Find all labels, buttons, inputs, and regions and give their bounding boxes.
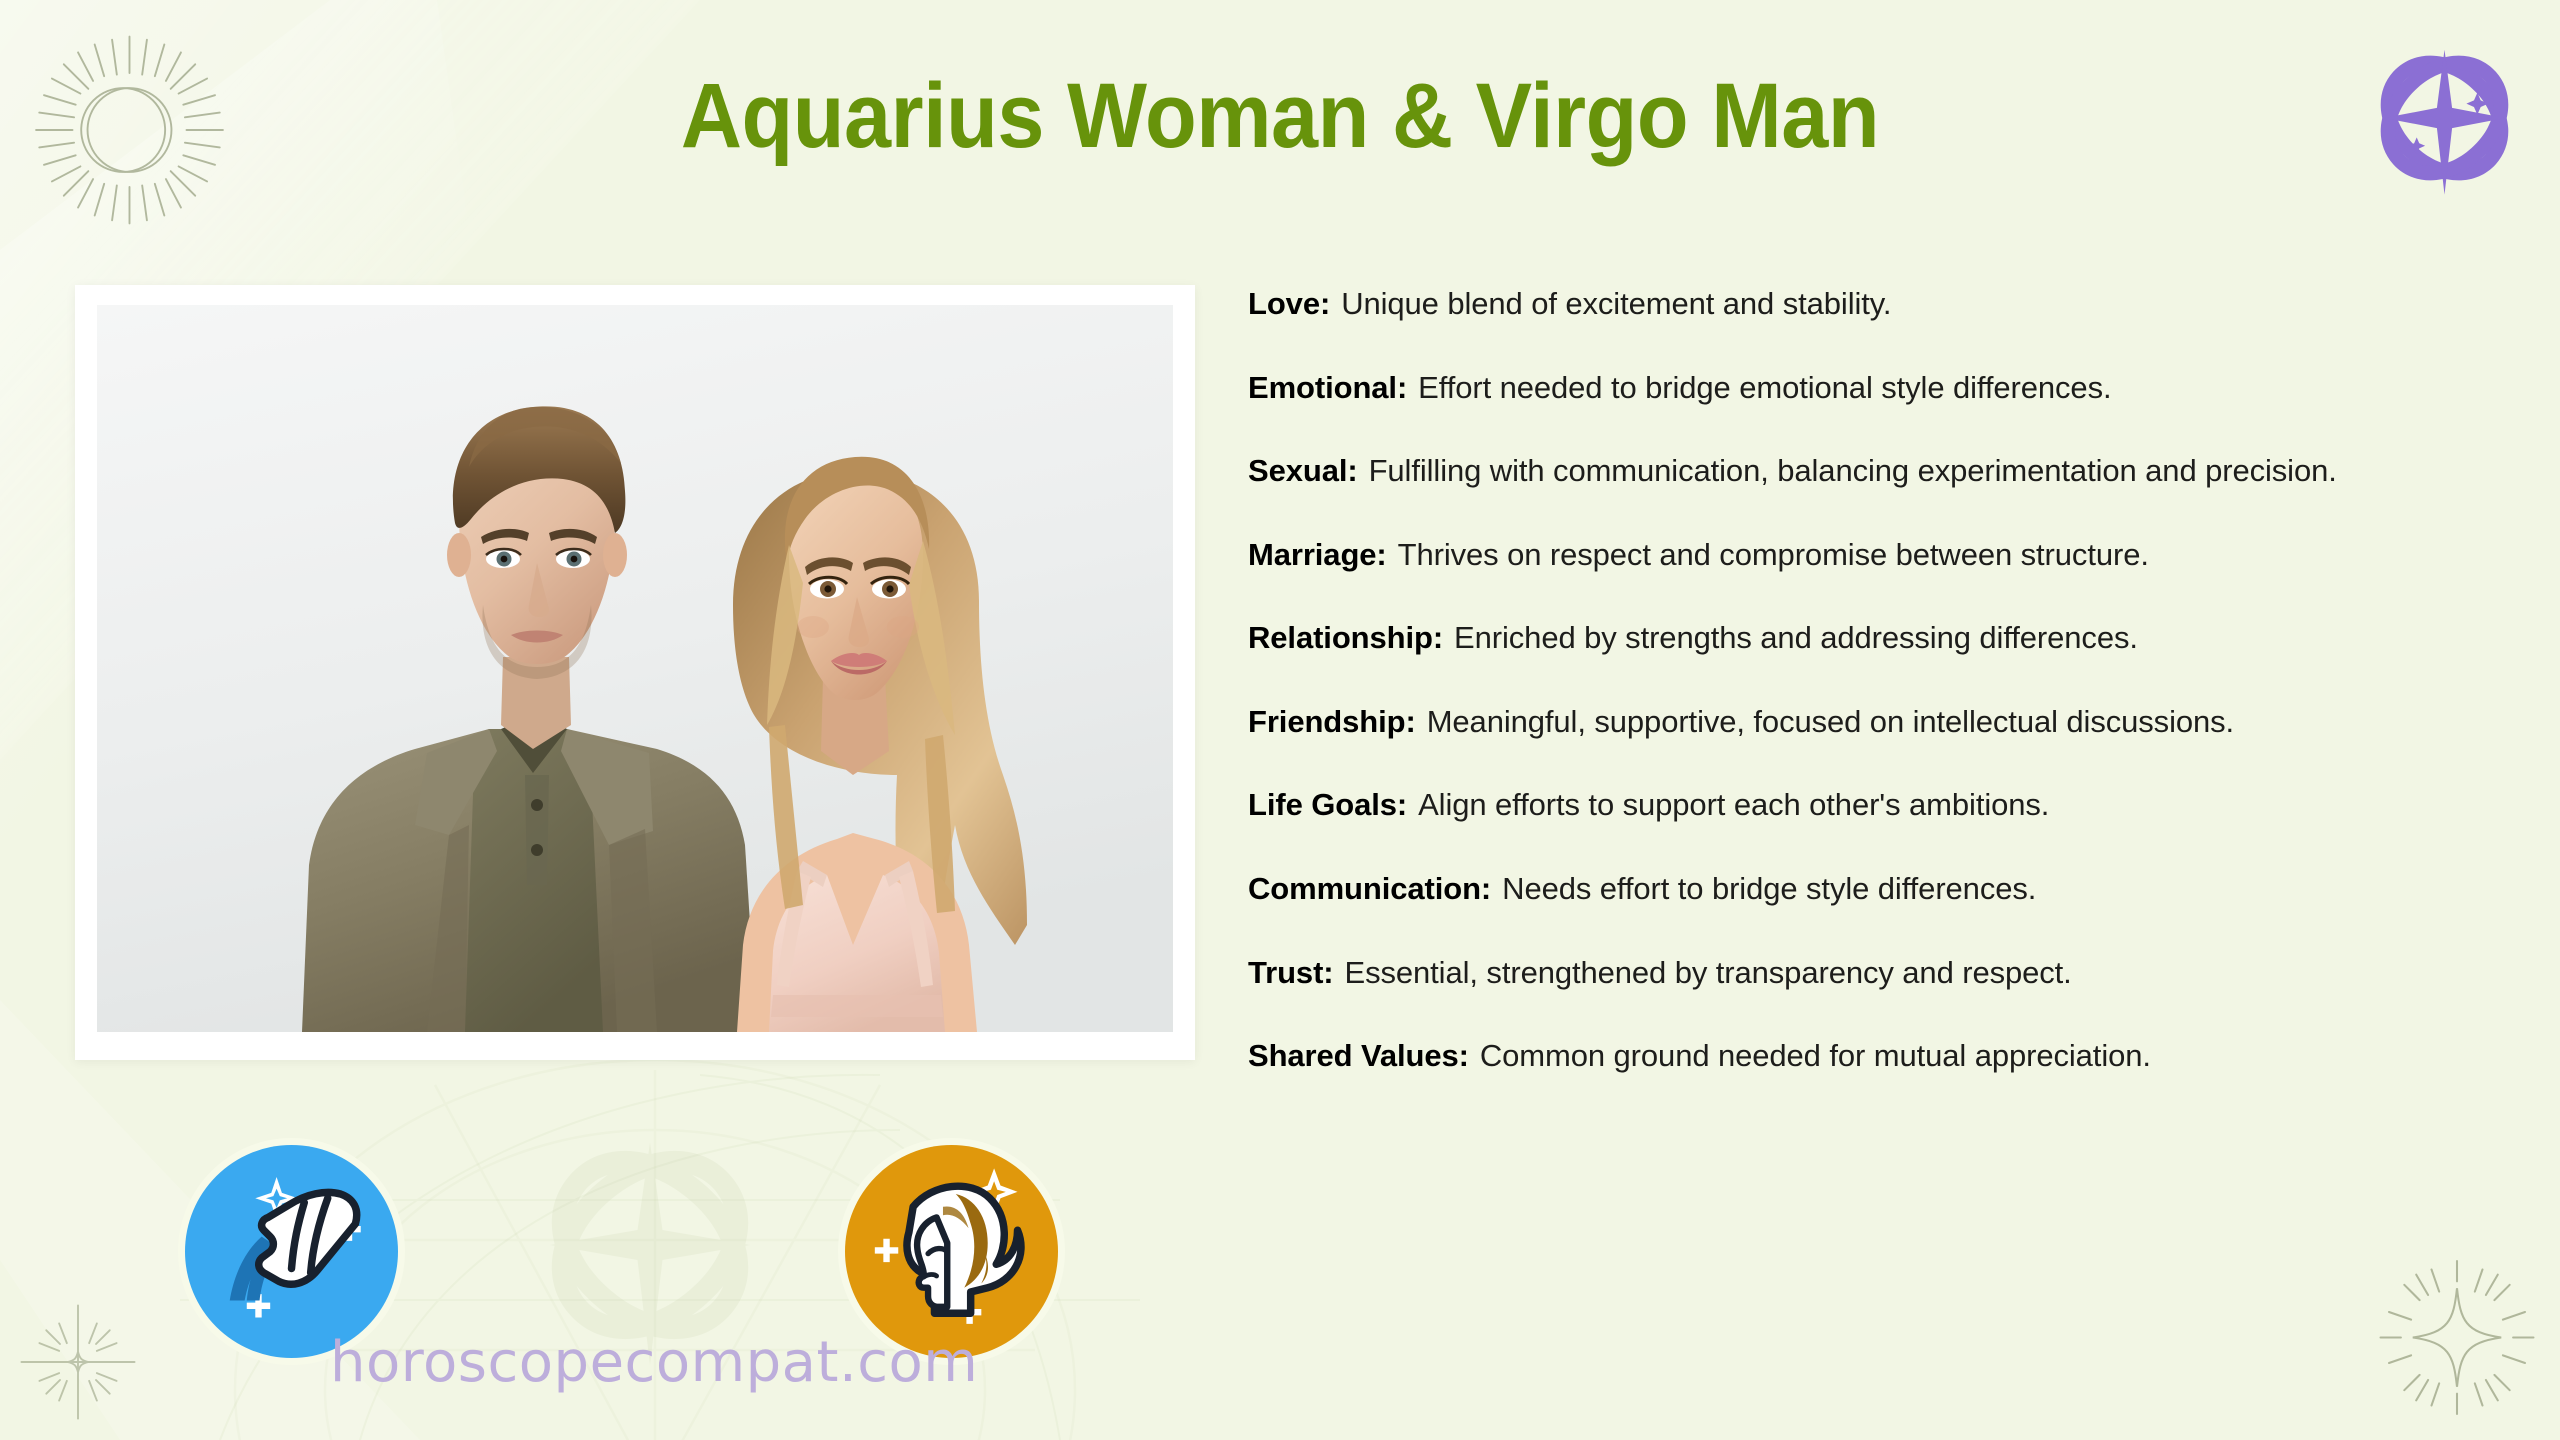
couple-photo bbox=[97, 305, 1173, 1032]
fact-value: Needs effort to bridge style differences… bbox=[1502, 871, 2036, 906]
fact-value: Meaningful, supportive, focused on intel… bbox=[1427, 704, 2234, 739]
fact-value: Common ground needed for mutual apprecia… bbox=[1480, 1038, 2151, 1073]
fact-label: Love: bbox=[1248, 286, 1330, 321]
fact-value: Unique blend of excitement and stability… bbox=[1341, 286, 1891, 321]
fact-row: Friendship:Meaningful, supportive, focus… bbox=[1248, 704, 2518, 741]
fact-label: Friendship: bbox=[1248, 704, 1416, 739]
compatibility-facts-list: Love:Unique blend of excitement and stab… bbox=[1248, 286, 2518, 1075]
site-url[interactable]: horoscopecompat.com bbox=[330, 1330, 978, 1395]
fact-label: Sexual: bbox=[1248, 453, 1358, 488]
virgo-maiden-icon bbox=[845, 1145, 1058, 1358]
fact-value: Thrives on respect and compromise betwee… bbox=[1398, 537, 2149, 572]
fact-row: Love:Unique blend of excitement and stab… bbox=[1248, 286, 2518, 323]
fact-row: Life Goals:Align efforts to support each… bbox=[1248, 787, 2518, 824]
fact-row: Shared Values:Common ground needed for m… bbox=[1248, 1038, 2518, 1075]
fact-row: Relationship:Enriched by strengths and a… bbox=[1248, 620, 2518, 657]
fact-value: Align efforts to support each other's am… bbox=[1418, 787, 2049, 822]
fact-label: Emotional: bbox=[1248, 370, 1407, 405]
four-point-star-rays-icon bbox=[2372, 1245, 2542, 1430]
aquarius-water-bearer-icon bbox=[185, 1145, 398, 1358]
fact-label: Communication: bbox=[1248, 871, 1491, 906]
zodiac-badge-aquarius[interactable] bbox=[185, 1145, 398, 1358]
page-title: Aquarius Woman & Virgo Man bbox=[102, 70, 2457, 162]
fact-row: Sexual:Fulfilling with communication, ba… bbox=[1248, 453, 2518, 490]
infographic-page: Aquarius Woman & Virgo Man bbox=[0, 0, 2560, 1440]
zodiac-badge-virgo[interactable] bbox=[845, 1145, 1058, 1358]
fact-label: Marriage: bbox=[1248, 537, 1387, 572]
fact-row: Communication:Needs effort to bridge sty… bbox=[1248, 871, 2518, 908]
fact-row: Emotional:Effort needed to bridge emotio… bbox=[1248, 370, 2518, 407]
fact-label: Trust: bbox=[1248, 955, 1334, 990]
fact-value: Essential, strengthened by transparency … bbox=[1345, 955, 2072, 990]
fact-value: Fulfilling with communication, balancing… bbox=[1369, 453, 2337, 488]
fact-value: Effort needed to bridge emotional style … bbox=[1418, 370, 2111, 405]
fact-value: Enriched by strengths and addressing dif… bbox=[1454, 620, 2138, 655]
fact-row: Marriage:Thrives on respect and compromi… bbox=[1248, 537, 2518, 574]
couple-photo-card bbox=[75, 285, 1195, 1060]
fact-row: Trust:Essential, strengthened by transpa… bbox=[1248, 955, 2518, 992]
fact-label: Relationship: bbox=[1248, 620, 1443, 655]
fact-label: Life Goals: bbox=[1248, 787, 1407, 822]
four-point-star-small-icon bbox=[18, 1302, 138, 1422]
fact-label: Shared Values: bbox=[1248, 1038, 1469, 1073]
